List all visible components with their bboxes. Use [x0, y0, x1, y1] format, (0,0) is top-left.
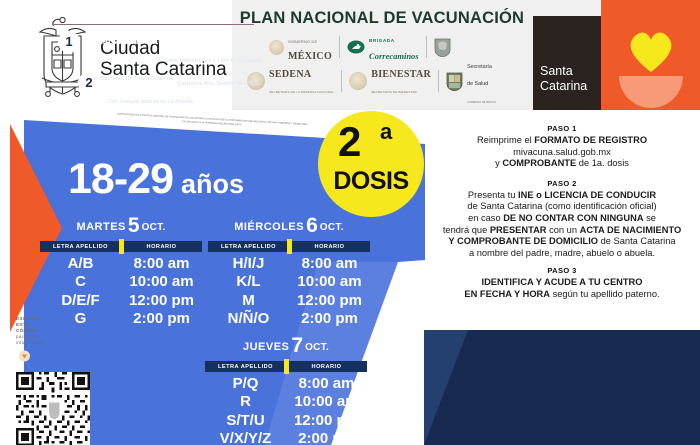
row-letters: C [40, 273, 121, 290]
row-time: 12:00 pm [121, 292, 202, 309]
center-1-name-line1: Estacionamiento [88, 36, 164, 47]
schedule-month: OCT. [142, 222, 166, 233]
secretaria-salud-logo: Secretaría de Salud GOBIERNO DE MÉXICO [439, 68, 503, 94]
header-divider [284, 359, 289, 374]
schedule-day: 7 [291, 334, 303, 357]
state-seal-logo [427, 34, 458, 60]
dose-badge: 2 a DOSIS [318, 111, 424, 217]
row-letters: S/T/U [205, 412, 286, 429]
column-header-letter: LETRA APELLIDO [40, 244, 121, 250]
step-3: PASO 3 IDENTIFICA Y ACUDE A TU CENTRO EN… [424, 266, 700, 300]
schedule-table-miercoles: MIÉRCOLES6OCT. LETRA APELLIDO HORARIO H/… [208, 214, 370, 328]
schedule-header-bar: LETRA APELLIDO HORARIO [208, 241, 370, 252]
step-1-line-3: y COMPROBANTE de 1a. dosis [424, 158, 700, 170]
schedule-table-martes: MARTES5OCT. LETRA APELLIDO HORARIO A/B 8… [40, 214, 202, 328]
table-row: D/E/F 12:00 pm [40, 291, 202, 310]
row-letters: H/I/J [208, 255, 289, 272]
row-letters: A/B [40, 255, 121, 272]
step-2-line-5: Y COMPROBANTE DE DOMICILIO de Santa Cata… [424, 236, 700, 248]
center-2-name-line1: Plaza Sendero [108, 77, 173, 88]
infographic-canvas: PLAN NACIONAL DE VACUNACIÓN Ciudad Santa… [0, 0, 700, 445]
schedule-month: OCT. [320, 222, 344, 233]
center-1-number: 1 [58, 31, 80, 53]
sedena-sub: SECRETARÍA DE LA DEFENSA NACIONAL [269, 90, 334, 94]
eagle-emblem-icon [269, 40, 284, 55]
dose-number: 2 [338, 119, 361, 165]
brigada-main: Correcaminos [369, 51, 419, 61]
column-header-time: HORARIO [289, 244, 370, 250]
schedule-header-bar: LETRA APELLIDO HORARIO [205, 361, 367, 372]
table-row: K/L 10:00 am [208, 273, 370, 292]
municipality-line2: Catarina [540, 79, 587, 94]
row-time: 10:00 am [289, 273, 370, 290]
gobierno-mexico-top: GOBIERNO DE [288, 40, 317, 44]
step-3-line-1: IDENTIFICA Y ACUDE A TU CENTRO [424, 277, 700, 289]
schedule-date-heading: MARTES5OCT. [40, 214, 202, 238]
center-1-address-line1: Calle Industriales y Luis E. Canavati, [165, 58, 262, 64]
center-2-address-line2: Col. Parque Industrial La Puerta [108, 99, 193, 105]
step-2-line-3: en caso DE NO CONTAR CON NINGUNA se [424, 213, 700, 225]
step-2-line-2: de Santa Catarina (como identificación o… [424, 201, 700, 213]
age-range-word: años [181, 169, 244, 199]
row-letters: N/Ñ/O [208, 310, 289, 327]
schedule-weekday: JUEVES [243, 341, 289, 353]
step-2-title: PASO 2 [424, 179, 700, 188]
row-time: 2:00 pm [289, 310, 370, 327]
step-1-title: PASO 1 [424, 124, 700, 133]
row-time: 10:00 am [121, 273, 202, 290]
dose-ordinal: a [380, 119, 392, 145]
row-time: 12:00 pm [286, 412, 367, 429]
step-2-line-1: Presenta tu INE o LICENCIA DE CONDUCIR [424, 190, 700, 202]
schedule-day: 6 [306, 214, 318, 237]
row-time: 8:00 am [286, 375, 367, 392]
step-2: PASO 2 Presenta tu INE o LICENCIA DE CON… [424, 179, 700, 260]
schedule-date-heading: JUEVES7OCT. [205, 334, 367, 358]
row-letters: R [205, 393, 286, 410]
bienestar-sub: SECRETARÍA DE BIENESTAR [371, 90, 417, 94]
municipality-line1: Santa [540, 64, 587, 79]
header-divider [119, 239, 124, 254]
column-header-letter: LETRA APELLIDO [205, 364, 286, 370]
bienestar-main: BIENESTAR [371, 69, 431, 80]
steps-panel: PASO 1 Reimprime el FORMATO DE REGISTRO … [424, 124, 700, 301]
heart-icon [626, 28, 676, 73]
salud-line3: GOBIERNO DE MÉXICO [467, 101, 496, 104]
step-1: PASO 1 Reimprime el FORMATO DE REGISTRO … [424, 124, 700, 170]
gobierno-mexico-main: MÉXICO [288, 51, 332, 62]
table-row: M 12:00 pm [208, 291, 370, 310]
eagle-emblem-icon [349, 72, 367, 90]
brigada-top: BRIGADA [369, 38, 395, 43]
centers-divider [54, 24, 254, 25]
qr-caption: ESCANEA ESTE CÓDIGO para más información [16, 316, 108, 346]
center-1-name-line2: H-E-B La Puerta [88, 54, 160, 65]
gov-logo-row-bottom: SEDENA SECRETARÍA DE LA DEFENSA NACIONAL… [240, 66, 540, 96]
center-item-2: 2 Plaza Sendero Carretera Mty.-Saltillo … [78, 72, 261, 108]
step-2-line-6: a nombre del padre, madre, abuelo o abue… [424, 248, 700, 260]
state-shield-icon [434, 38, 451, 57]
table-row: H/I/J 8:00 am [208, 254, 370, 273]
schedule-weekday: MIÉRCOLES [234, 221, 304, 233]
table-row: S/T/U 12:00 pm [205, 411, 367, 430]
centers-title: CENTROS DE VACUNACIÓN [0, 6, 276, 18]
row-letters: P/Q [205, 375, 286, 392]
gobierno-mexico-logo: GOBIERNO DE MÉXICO [262, 34, 339, 60]
salud-shield-icon [446, 72, 463, 91]
sedena-main: SEDENA [269, 69, 311, 80]
salud-line2: de Salud [467, 81, 488, 87]
age-range-value: 18-29 [68, 155, 173, 203]
vaccination-centers-panel [424, 330, 700, 445]
row-time: 12:00 pm [289, 292, 370, 309]
step-2-line-4: tendrá que PRESENTAR con un ACTA DE NACI… [424, 225, 700, 237]
step-1-line-1: Reimprime el FORMATO DE REGISTRO [424, 135, 700, 147]
row-time: 2:00 pm [121, 310, 202, 327]
step-3-title: PASO 3 [424, 266, 700, 275]
plan-title: PLAN NACIONAL DE VACUNACIÓN [232, 7, 532, 29]
gov-logo-row-top: GOBIERNO DE MÉXICO BRIGADA Correcaminos [262, 33, 542, 61]
row-time: 8:00 am [289, 255, 370, 272]
qr-block: ESCANEA ESTE CÓDIGO para más información [16, 316, 108, 445]
row-letters: K/L [208, 273, 289, 290]
schedule-date-heading: MIÉRCOLES6OCT. [208, 214, 370, 238]
column-header-letter: LETRA APELLIDO [208, 244, 289, 250]
schedule-weekday: MARTES [76, 221, 125, 233]
column-header-time: HORARIO [286, 364, 367, 370]
dose-word: DOSIS [318, 167, 424, 196]
center-2-address-line1: Carretera Mty.-Saltillo No. 2601, [177, 81, 261, 87]
table-row: V/X/Y/Z 2:00 pm [205, 430, 367, 445]
step-1-line-2: mivacuna.salud.gob.mx [424, 147, 700, 159]
row-time: 10:00 am [286, 393, 367, 410]
table-row: C 10:00 am [40, 273, 202, 292]
table-row: A/B 8:00 am [40, 254, 202, 273]
row-letters: M [208, 292, 289, 309]
table-row: N/Ñ/O 2:00 pm [208, 310, 370, 329]
table-row: R 10:00 am [205, 393, 367, 412]
schedule-day: 5 [128, 214, 140, 237]
header-divider [287, 239, 292, 254]
roadrunner-icon [347, 40, 365, 54]
salud-line1: Secretaría [467, 64, 492, 70]
row-time: 8:00 am [121, 255, 202, 272]
column-header-time: HORARIO [121, 244, 202, 250]
center-2-number: 2 [78, 72, 100, 94]
bienestar-logo: BIENESTAR SECRETARÍA DE BIENESTAR [342, 68, 438, 94]
schedule-month: OCT. [305, 342, 329, 353]
municipality-badge: Santa Catarina [533, 16, 601, 110]
schedule-header-bar: LETRA APELLIDO HORARIO [40, 241, 202, 252]
qr-caption-line5: información [16, 340, 108, 346]
qr-code-icon[interactable] [16, 372, 90, 445]
step-3-line-2: EN FECHA Y HORA según tu apellido patern… [424, 289, 700, 301]
brigada-correcaminos-logo: BRIGADA Correcaminos [340, 34, 426, 60]
row-time: 2:00 pm [286, 430, 367, 445]
location-pin-icon [18, 350, 31, 363]
table-row: P/Q 8:00 am [205, 374, 367, 393]
row-letters: D/E/F [40, 292, 121, 309]
schedule-table-jueves: JUEVES7OCT. LETRA APELLIDO HORARIO P/Q 8… [205, 334, 367, 445]
row-letters: V/X/Y/Z [205, 430, 286, 445]
